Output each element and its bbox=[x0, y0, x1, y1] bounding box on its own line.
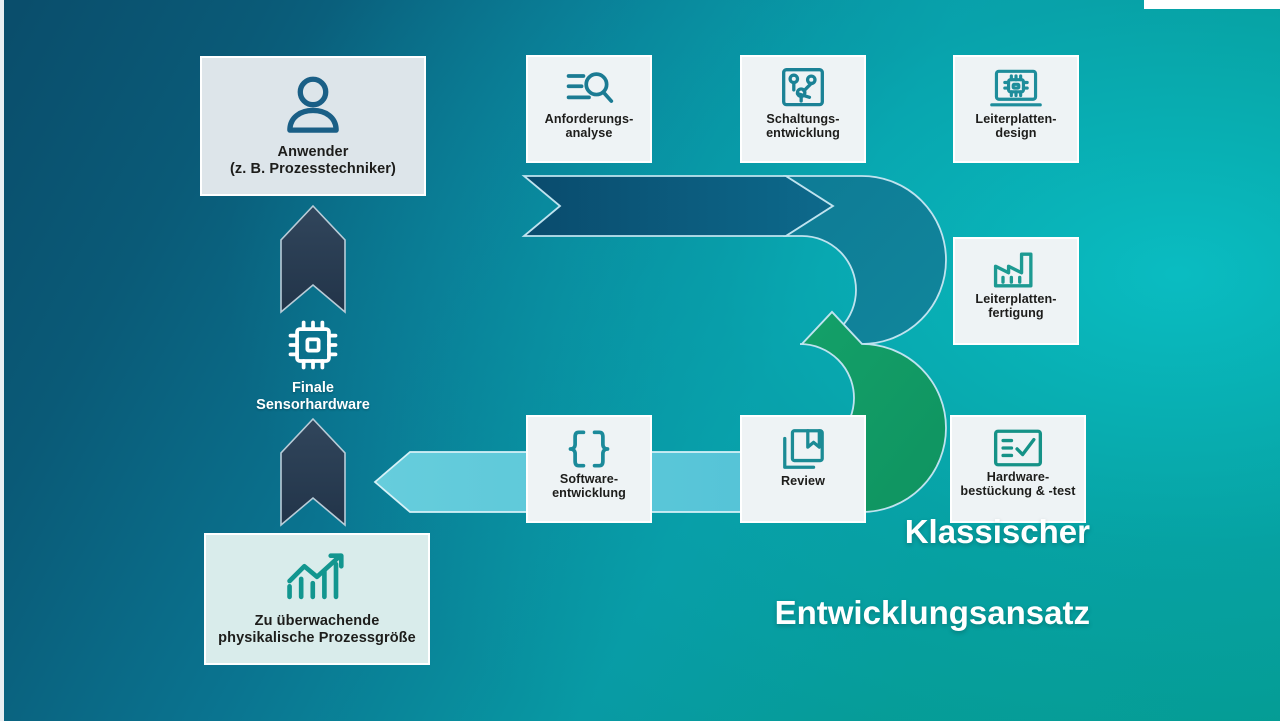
requirements-search-icon bbox=[563, 66, 615, 112]
card-softwareentwicklung-label-line2: entwicklung bbox=[552, 486, 626, 500]
card-anwender-label-line2: (z. B. Prozesstechniker) bbox=[230, 161, 396, 178]
checklist-icon bbox=[991, 426, 1045, 470]
card-anwender-label-line1: Anwender bbox=[278, 144, 349, 161]
slide-title-line2: Entwicklungsansatz bbox=[775, 593, 1090, 633]
card-leiterplattenfertigung[interactable]: Leiterplatten- fertigung bbox=[953, 237, 1079, 345]
circuit-board-icon bbox=[779, 66, 827, 112]
finale-sensorhardware-label-line1: Finale bbox=[292, 380, 334, 397]
card-anforderungsanalyse-label-line2: analyse bbox=[566, 126, 613, 140]
slide-title-line1: Klassischer bbox=[775, 512, 1090, 552]
laptop-chip-icon bbox=[989, 66, 1043, 112]
card-anforderungsanalyse[interactable]: Anforderungs- analyse bbox=[526, 55, 652, 163]
card-leiterplattenfertigung-label-line1: Leiterplatten- bbox=[975, 292, 1056, 306]
card-anwender[interactable]: Anwender (z. B. Prozesstechniker) bbox=[200, 56, 426, 196]
card-anforderungsanalyse-label-line1: Anforderungs- bbox=[545, 112, 634, 126]
curly-braces-icon bbox=[564, 426, 614, 472]
slide-canvas: Anwender (z. B. Prozesstechniker) Finale… bbox=[0, 0, 1280, 721]
up-arrow-upper bbox=[281, 206, 345, 312]
flow-arrow-top bbox=[524, 176, 833, 236]
card-leiterplattendesign[interactable]: Leiterplatten- design bbox=[953, 55, 1079, 163]
card-schaltungsentwicklung-label-line2: entwicklung bbox=[766, 126, 840, 140]
chip-icon bbox=[283, 315, 343, 380]
card-schaltungsentwicklung-label-line1: Schaltungs- bbox=[766, 112, 839, 126]
card-prozessgroesse-label-line2: physikalische Prozessgröße bbox=[218, 630, 416, 647]
card-prozessgroesse-label-line1: Zu überwachende bbox=[255, 613, 380, 630]
card-leiterplattenfertigung-label-line2: fertigung bbox=[988, 306, 1043, 320]
card-leiterplattendesign-label-line1: Leiterplatten- bbox=[975, 112, 1056, 126]
factory-icon bbox=[990, 248, 1042, 292]
card-softwareentwicklung-label-line1: Software- bbox=[560, 472, 618, 486]
slide-title: Klassischer Entwicklungsansatz bbox=[775, 472, 1090, 673]
book-bookmark-icon bbox=[778, 426, 828, 474]
card-schaltungsentwicklung[interactable]: Schaltungs- entwicklung bbox=[740, 55, 866, 163]
up-arrow-lower bbox=[281, 419, 345, 525]
card-softwareentwicklung[interactable]: Software- entwicklung bbox=[526, 415, 652, 523]
card-prozessgroesse[interactable]: Zu überwachende physikalische Prozessgrö… bbox=[204, 533, 430, 665]
bar-chart-trend-icon bbox=[279, 547, 355, 613]
card-leiterplattendesign-label-line2: design bbox=[995, 126, 1036, 140]
person-icon bbox=[276, 70, 350, 144]
finale-sensorhardware-label-line2: Sensorhardware bbox=[256, 397, 370, 414]
item-finale-sensorhardware[interactable]: Finale Sensorhardware bbox=[225, 315, 401, 414]
